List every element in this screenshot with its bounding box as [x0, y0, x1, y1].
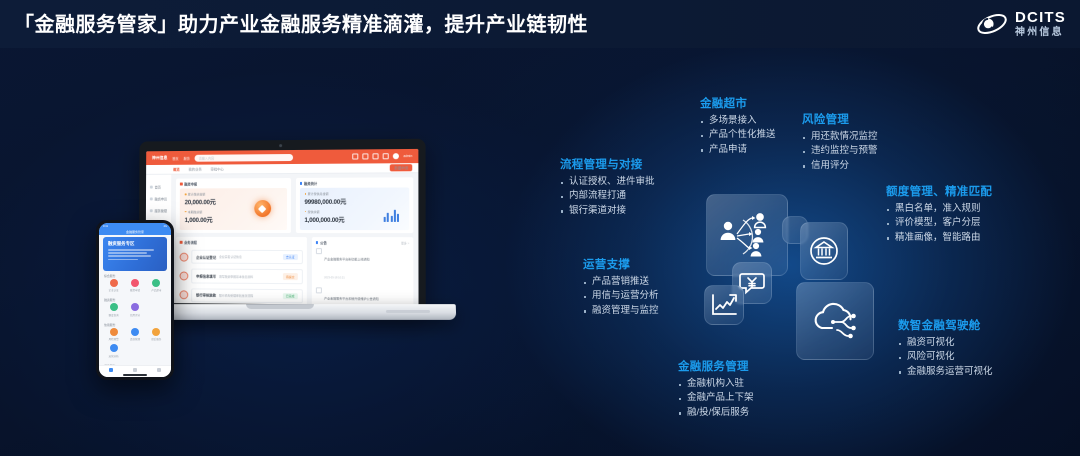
block-list-item: 产品营销推送	[583, 275, 659, 289]
block-list-item: 精准画像，智能路由	[886, 231, 992, 245]
stat-box-blue: 累计授信总金额 99980,000.00元 授信余额 1,000,000.00元	[299, 187, 409, 230]
service-icon	[150, 209, 153, 212]
app-icon	[110, 303, 118, 311]
sidebar-label-financing: 融资申请	[155, 196, 167, 201]
dot-icon	[304, 193, 306, 195]
stat-label-text-1-1: 授信余额	[308, 209, 320, 213]
block-heading: 金融超市	[700, 95, 776, 111]
flow-step-body: 申报信息填写 填写融资申报基本信息资料 待提交	[191, 269, 302, 284]
home-icon	[150, 185, 153, 188]
user-icon	[157, 368, 161, 372]
doc-icon	[150, 197, 153, 200]
dashboard-body: 首页 融资申请 服务管理 融资申报 累计融资金额 20,000.00元 本	[146, 173, 419, 305]
phone-home-indicator	[123, 374, 147, 376]
logo-en: DCITS	[1015, 10, 1066, 25]
new-application-button[interactable]: 新建申请	[390, 164, 412, 171]
app-label: 额度查询	[103, 313, 124, 317]
flow-step-desc: 银行机构受理审批放款流程	[219, 294, 253, 298]
phone-section-title: 综合服务	[104, 274, 166, 278]
phone-app-grid: 企业认证 融资申请 产品超市	[99, 279, 171, 295]
block-list-item: 产品申请	[700, 143, 776, 157]
phone-app-0[interactable]: 企业认证	[103, 279, 124, 292]
flow-step-name: 申报信息填写	[196, 274, 216, 279]
block-list: 融资可视化 风险可视化 金融服务运营可视化	[898, 336, 993, 379]
app-icon	[131, 279, 139, 287]
block-heading: 金融服务管理	[678, 358, 754, 374]
app-icon	[131, 303, 139, 311]
bank-coin-icon	[809, 236, 839, 266]
sidebar-item-financing[interactable]: 融资申请	[146, 192, 171, 204]
block-heading: 额度管理、精准匹配	[886, 183, 992, 199]
dot-icon	[304, 211, 306, 213]
block-list: 金融机构入驻 金融产品上下架 融/投/保后服务	[678, 377, 754, 420]
phone-app-7[interactable]: 保后服务	[146, 328, 167, 341]
block-list: 产品营销推送 用信与运营分析 融资管理与监控	[583, 275, 659, 318]
news-time: 2023-05-18 10:21	[324, 276, 345, 279]
grid-icon[interactable]	[353, 153, 359, 159]
announcements-card: 公告 更多 > 产业金融服务平台新功能上线通知2023-05-18 10:21 …	[311, 237, 413, 305]
flow-step-action[interactable]: 已完成	[283, 293, 298, 300]
lists-row: 业务流程 企业认证登记 企业实名认证信息 去认证	[175, 237, 414, 306]
diamond-badge-icon	[254, 200, 271, 217]
phone-app-5[interactable]: 风险预警	[103, 328, 124, 341]
dot-icon	[185, 211, 187, 213]
help-icon[interactable]	[373, 153, 379, 159]
slide-header: 「金融服务管家」助力产业金融服务精准滴灌，提升产业链韧性 DCITS 神州信息	[0, 0, 1080, 48]
app-label: 还款管理	[124, 337, 145, 341]
cloud-computing-icon	[809, 298, 861, 344]
tile-cloud-computing	[796, 282, 874, 360]
stat-label-text-1-0: 累计授信总金额	[308, 192, 329, 196]
block-heading: 运营支撑	[583, 256, 659, 272]
block-digital-cockpit: 数智金融驾驶舱 融资可视化 风险可视化 金融服务运营可视化	[898, 317, 993, 379]
laptop-trackpad-notch	[246, 304, 314, 309]
settings-icon[interactable]	[383, 153, 389, 159]
banner-line	[108, 259, 138, 261]
card-title-text-0: 融资申报	[184, 181, 197, 186]
dashboard-search-placeholder: 请输入内容	[199, 155, 215, 160]
phone-screen: 9:41 4G 金融服务管家 融资服务专区 综合服务 企业认证 融资申请	[99, 223, 171, 377]
block-list-item: 信用评分	[802, 159, 878, 173]
news-header: 公告 更多 >	[316, 240, 410, 245]
dashboard-main: 融资申报 累计融资金额 20,000.00元 本期融资额 1,000.00元	[171, 173, 419, 305]
tab-my-business[interactable]: 我的业务	[188, 167, 201, 172]
stat-box-orange: 累计融资金额 20,000.00元 本期融资额 1,000.00元	[180, 188, 287, 230]
app-label: 运营分析	[103, 354, 124, 358]
stat-label-text-0-1: 本期融资额	[188, 210, 203, 214]
block-list-item: 违约监控与预警	[802, 144, 878, 158]
block-list-item: 黑白名单，准入规则	[886, 202, 992, 216]
block-list-item: 用还款情况监控	[802, 130, 878, 144]
block-list-item: 金融产品上下架	[678, 391, 754, 405]
doc-icon	[316, 248, 322, 254]
dashboard-brand: 神州信息	[152, 155, 167, 161]
phone-app-8[interactable]: 运营分析	[103, 344, 124, 357]
flow-step-desc: 企业实名认证信息	[219, 255, 242, 259]
block-list-item: 金融服务运营可视化	[898, 365, 993, 379]
banner-line	[108, 249, 154, 251]
sidebar-label-service: 服务管理	[155, 208, 167, 213]
phone-banner[interactable]: 融资服务专区	[103, 237, 167, 271]
card-financing-declaration: 融资申报 累计融资金额 20,000.00元 本期融资额 1,000.00元	[176, 178, 291, 233]
phone-app-1[interactable]: 融资申请	[124, 279, 145, 292]
logo-cn: 神州信息	[1015, 28, 1066, 38]
dashboard-username: admin	[403, 154, 412, 158]
card-accent-bar	[316, 241, 319, 244]
block-list: 用还款情况监控 违约监控与预警 信用评分	[802, 130, 878, 173]
flow-step-name: 企业认证登记	[196, 254, 216, 259]
app-label: 风险预警	[103, 337, 124, 341]
flow-step-name: 银行审核放款	[196, 293, 216, 298]
block-financial-service-management: 金融服务管理 金融机构入驻 金融产品上下架 融/投/保后服务	[678, 358, 754, 420]
app-label: 融资申请	[124, 288, 145, 292]
home-icon	[109, 368, 113, 372]
flow-title: 业务流程	[180, 240, 303, 245]
logo-text: DCITS 神州信息	[1015, 10, 1066, 38]
laptop-lid: 神州信息 首页 服务 请输入内容 admin	[139, 139, 426, 312]
phone-section-title: 融资服务	[104, 298, 166, 302]
stat-value-0-1: 1,000.00元	[185, 215, 282, 224]
laptop-camera-icon	[279, 144, 282, 147]
news-text: 产业金融服务平台系统升级维护公告通知	[324, 297, 379, 302]
bell-icon[interactable]	[363, 153, 369, 159]
card-accent-bar	[180, 241, 182, 243]
card-title-text-1: 融资统计	[304, 181, 317, 186]
block-risk-management: 风险管理 用还款情况监控 违约监控与预警 信用评分	[802, 111, 878, 173]
page-title: 「金融服务管家」助力产业金融服务精准滴灌，提升产业链韧性	[14, 8, 588, 37]
block-list-item: 多场景接入	[700, 114, 776, 128]
flow-step[interactable]: 申报信息填写 填写融资申报基本信息资料 待提交	[180, 269, 303, 284]
tab-overview[interactable]: 概览	[173, 167, 180, 172]
phone-app-grid: 额度查询 信用评分	[99, 303, 171, 319]
business-flow-card: 业务流程 企业认证登记 企业实名认证信息 去认证	[175, 237, 307, 306]
app-label: 信用评分	[124, 313, 145, 317]
slide-root: 「金融服务管家」助力产业金融服务精准滴灌，提升产业链韧性 DCITS 神州信息 …	[0, 0, 1080, 456]
phone-banner-title: 融资服务专区	[108, 241, 162, 247]
stat-label-1-0: 累计授信总金额	[304, 192, 404, 196]
app-label: 产品超市	[146, 288, 167, 292]
stat-label-text-0-0: 累计融资金额	[188, 192, 206, 196]
laptop-foot	[386, 310, 430, 313]
block-list-item: 融/投/保后服务	[678, 406, 754, 420]
phone-status-signal: 4G	[164, 225, 167, 228]
block-list-item: 内部流程打通	[560, 189, 655, 203]
block-financial-supermarket: 金融超市 多场景接入 产品个性化推送 产品申请	[700, 95, 776, 157]
stat-label-0-0: 累计融资金额	[185, 192, 282, 196]
flow-step-action[interactable]: 待提交	[283, 273, 298, 279]
block-heading: 数智金融驾驶舱	[898, 317, 993, 333]
news-title: 公告	[320, 240, 327, 245]
block-list-item: 风险可视化	[898, 350, 993, 364]
laptop-screen: 神州信息 首页 服务 请输入内容 admin	[146, 149, 419, 305]
app-icon	[152, 279, 160, 287]
card-title-1: 融资统计	[299, 180, 409, 186]
app-icon	[110, 279, 118, 287]
block-list-item: 融资可视化	[898, 336, 993, 350]
phone-navbar: 金融服务管家	[99, 229, 171, 235]
block-list-item: 产品个性化推送	[700, 128, 776, 142]
block-list-item: 评价模型，客户分层	[886, 216, 992, 230]
step-dot-icon	[179, 291, 188, 300]
step-dot-icon	[180, 272, 189, 281]
block-heading: 风险管理	[802, 111, 878, 127]
phone-app-2[interactable]: 产品超市	[146, 279, 167, 292]
avatar[interactable]	[393, 153, 399, 159]
tile-growth-chart	[704, 285, 744, 325]
app-label: 企业认证	[103, 288, 124, 292]
doc-icon	[316, 287, 322, 293]
block-list-item: 融资管理与监控	[583, 304, 659, 318]
phone-mockup: 9:41 4G 金融服务管家 融资服务专区 综合服务 企业认证 融资申请	[96, 220, 174, 380]
app-icon	[110, 344, 118, 352]
news-item[interactable]: 产业金融服务平台系统升级维护公告通知2023-05-16 09:40	[315, 287, 409, 306]
app-icon	[131, 328, 139, 336]
tile-bank-coin	[800, 222, 848, 280]
block-list: 多场景接入 产品个性化推送 产品申请	[700, 114, 776, 157]
dcits-swirl-icon	[975, 9, 1009, 39]
block-process-management: 流程管理与对接 认证授权、进件审批 内部流程打通 银行渠道对接	[560, 156, 655, 218]
sidebar-item-service[interactable]: 服务管理	[146, 204, 171, 216]
news-text: 产业金融服务平台新功能上线通知	[324, 257, 370, 261]
phone-app-4[interactable]: 信用评分	[124, 303, 145, 316]
block-heading: 流程管理与对接	[560, 156, 655, 172]
news-item[interactable]: 产业金融服务平台新功能上线通知2023-05-18 10:21	[316, 247, 410, 284]
flow-step[interactable]: 企业认证登记 企业实名认证信息 去认证	[180, 250, 303, 265]
icon-cluster	[700, 186, 880, 366]
growth-chart-icon	[711, 293, 737, 317]
block-list-item: 金融机构入驻	[678, 377, 754, 391]
device-mockup: 神州信息 首页 服务 请输入内容 admin	[96, 140, 466, 355]
flow-step-body: 企业认证登记 企业实名认证信息 去认证	[191, 250, 302, 265]
flow-step-action[interactable]: 去认证	[283, 254, 298, 260]
news-more-link[interactable]: 更多 >	[401, 241, 409, 245]
app-icon	[152, 328, 160, 336]
card-financing-stats: 融资统计 累计授信总金额 99980,000.00元 授信余额 1,000,00…	[295, 177, 413, 233]
sidebar-item-home[interactable]: 首页	[146, 181, 171, 193]
card-accent-bar	[180, 183, 182, 185]
app-label: 保后服务	[146, 337, 167, 341]
block-list: 黑白名单，准入规则 评价模型，客户分层 精准画像，智能路由	[886, 202, 992, 245]
app-icon	[110, 328, 118, 336]
card-title-0: 融资申报	[180, 181, 287, 186]
phone-app-grid: 风险预警 还款管理 保后服务 运营分析	[99, 328, 171, 361]
bar-chart-icon	[384, 210, 399, 222]
sidebar-label-home: 首页	[155, 184, 161, 189]
stat-value-1-0: 99980,000.00元	[304, 197, 404, 206]
block-operation-support: 运营支撑 产品营销推送 用信与运营分析 融资管理与监控	[583, 256, 659, 318]
dashboard-nav-item-0[interactable]: 首页	[172, 155, 178, 160]
block-quota-matching: 额度管理、精准匹配 黑白名单，准入规则 评价模型，客户分层 精准画像，智能路由	[886, 183, 992, 245]
phone-app-3[interactable]: 额度查询	[103, 303, 124, 316]
flow-step-body: 银行审核放款 银行机构受理审批放款流程 已完成	[191, 288, 302, 303]
flow-step[interactable]: 银行审核放款 银行机构受理审批放款流程 已完成	[179, 288, 302, 303]
dot-icon	[185, 194, 187, 196]
phone-section-title: 信用服务	[104, 323, 166, 327]
banner-line	[108, 252, 147, 254]
banner-line	[108, 255, 151, 257]
phone-tab-mine[interactable]: 我的	[147, 366, 171, 377]
customer-network-icon	[718, 210, 776, 260]
tab-approval[interactable]: 审批中心	[210, 166, 223, 171]
block-list: 认证授权、进件审批 内部流程打通 银行渠道对接	[560, 175, 655, 218]
flow-step-desc: 填写融资申报基本信息资料	[219, 274, 253, 278]
service-icon	[133, 368, 137, 372]
phone-status-time: 9:41	[103, 225, 108, 228]
dashboard-search-input[interactable]: 请输入内容	[195, 153, 294, 161]
company-logo: DCITS 神州信息	[975, 7, 1066, 41]
stat-cards-row: 融资申报 累计融资金额 20,000.00元 本期融资额 1,000.00元	[176, 177, 413, 233]
block-list-item: 用信与运营分析	[583, 289, 659, 303]
step-dot-icon	[180, 252, 189, 261]
block-list-item: 银行渠道对接	[560, 204, 655, 218]
phone-tab-home[interactable]: 首页	[99, 366, 123, 377]
block-list-item: 认证授权、进件审批	[560, 175, 655, 189]
dashboard-nav-item-1[interactable]: 服务	[183, 155, 189, 160]
dashboard-nav: 首页 服务	[172, 155, 190, 160]
card-accent-bar	[299, 182, 301, 185]
flow-title-text: 业务流程	[184, 240, 197, 245]
dashboard-toolbar-icons: admin	[353, 153, 413, 160]
phone-app-6[interactable]: 还款管理	[124, 328, 145, 341]
phone-nav-title: 金融服务管家	[126, 230, 144, 234]
